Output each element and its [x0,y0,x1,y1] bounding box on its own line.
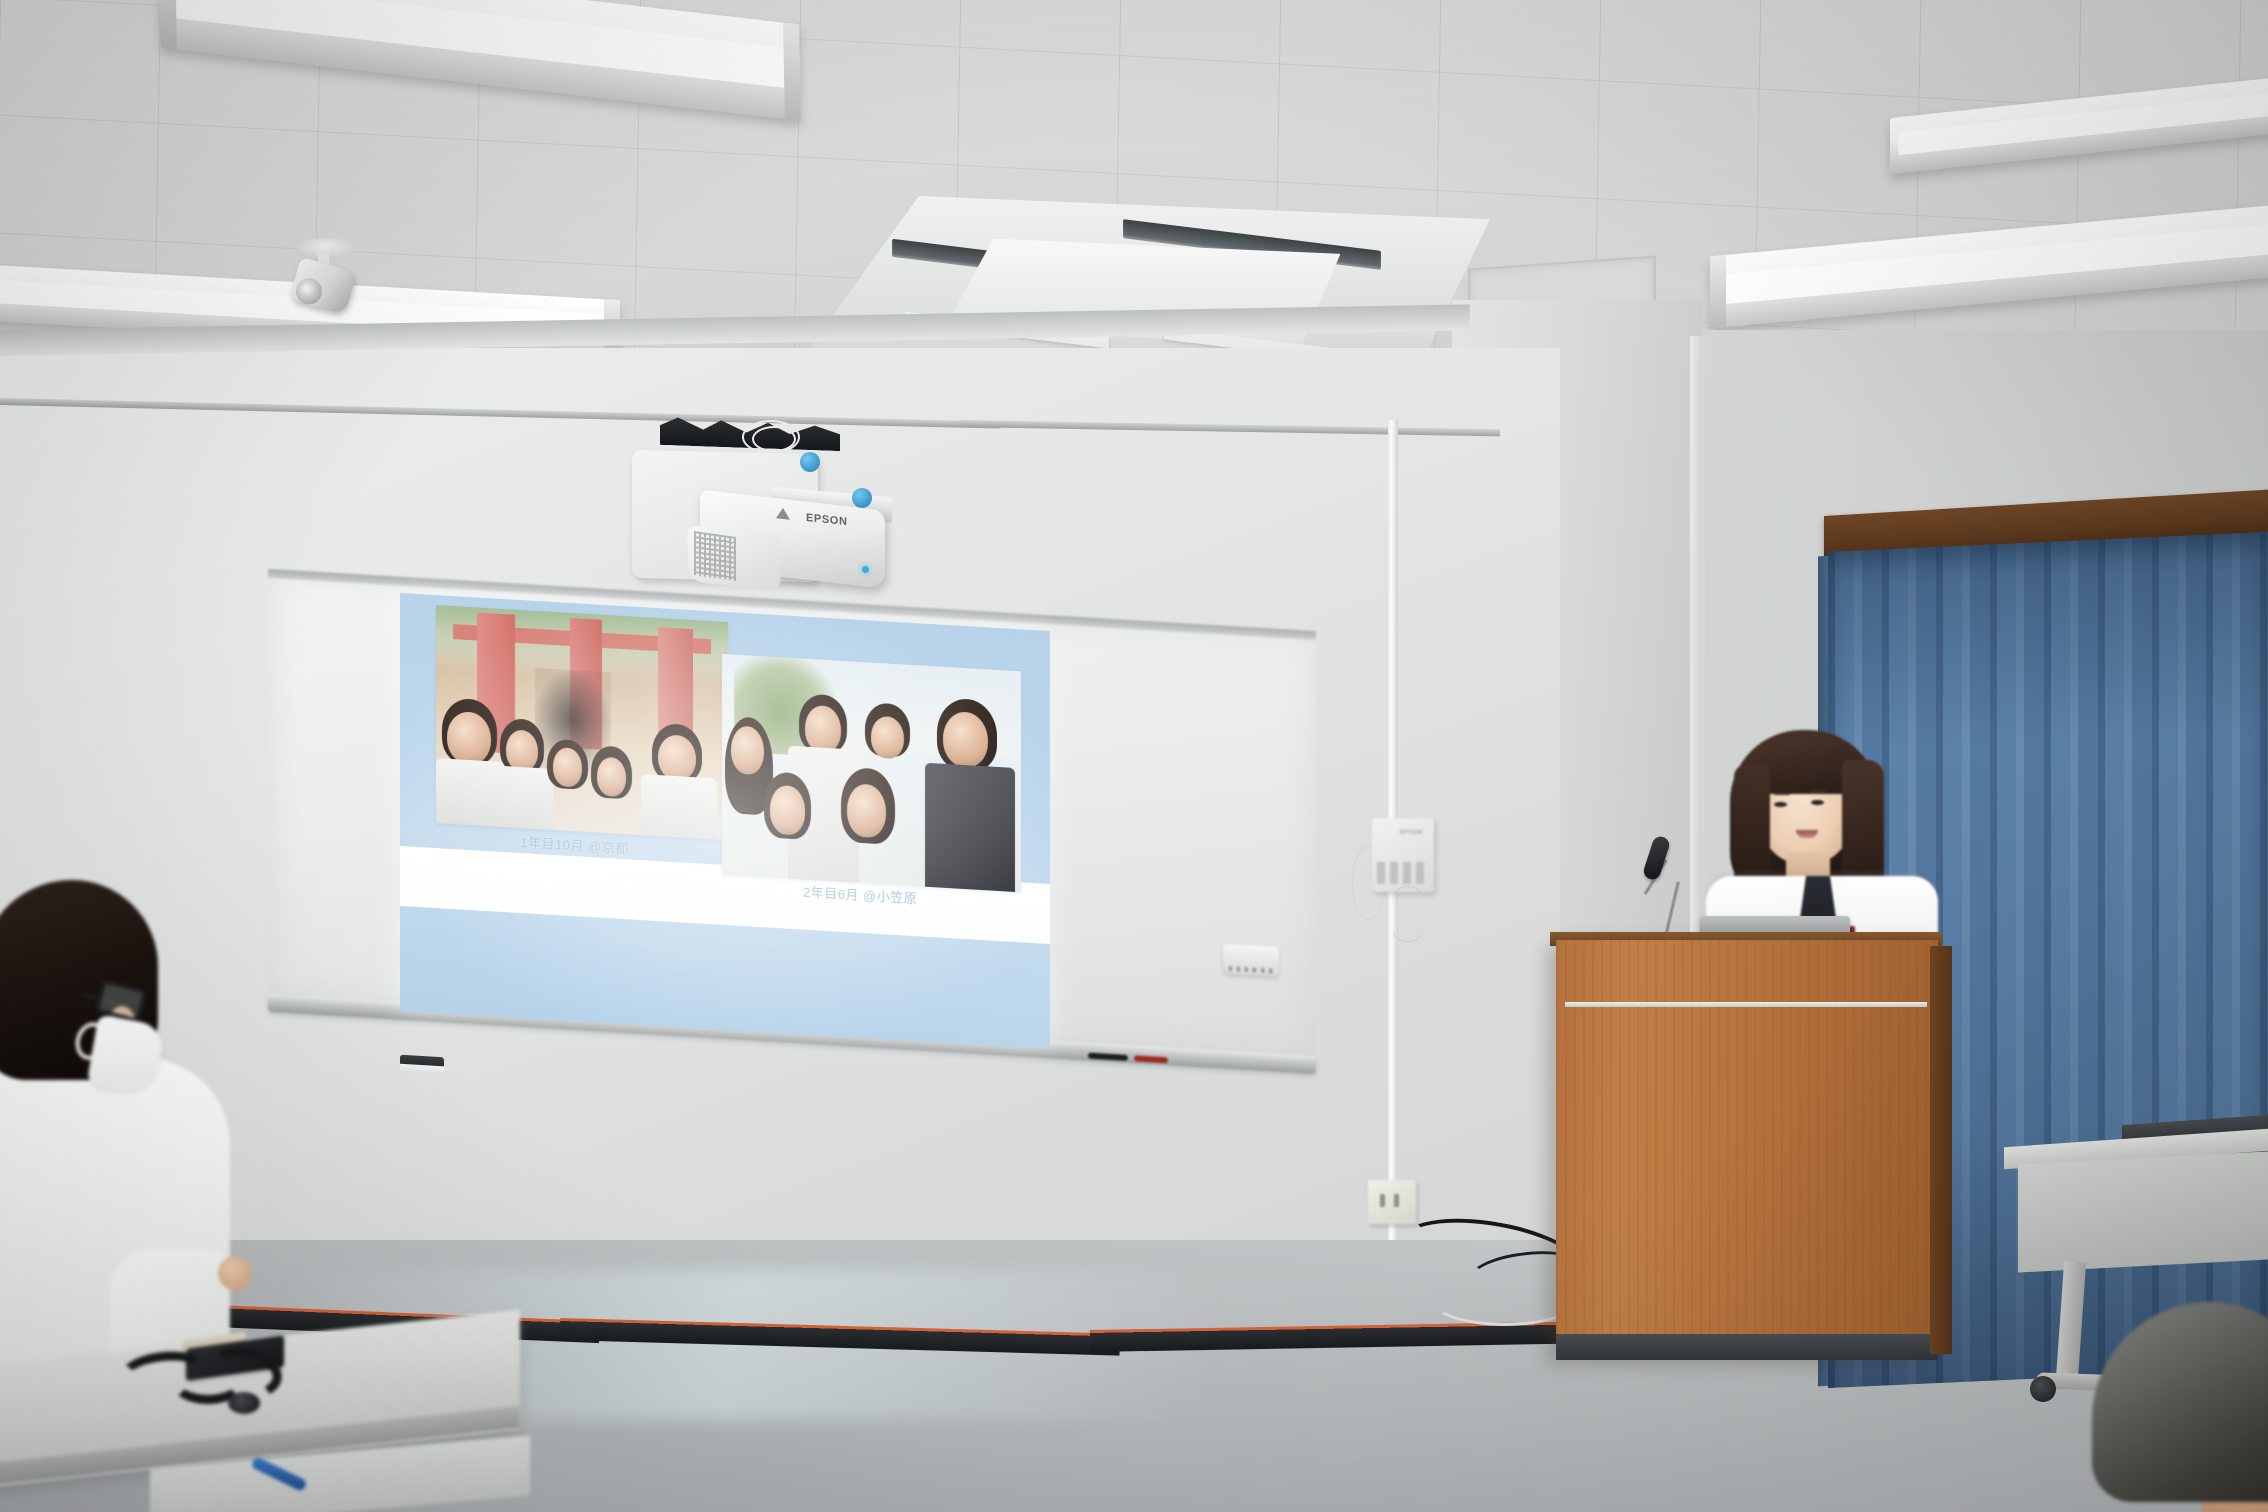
audience-hand [218,1256,252,1290]
presenter-eyebrow [1810,790,1826,793]
projector-power-led [862,566,869,573]
projector-warning-icon [776,507,790,519]
projected-slide: 1年目10月 @京都 2年目6月 @小笠原 [400,593,1050,1049]
control-box-ports[interactable] [1377,862,1429,884]
outlet-slot [1394,1194,1399,1207]
projector-cable-loop [752,426,796,452]
podium [1556,940,1938,1360]
person-body [925,763,1015,892]
person-face [731,725,764,776]
presenter-eyebrow [1774,792,1790,795]
stethoscope [118,1348,298,1418]
whiteboard-eraser-holder[interactable] [1223,944,1279,977]
wall-power-outlet[interactable] [1368,1180,1416,1224]
whiteboard-eraser[interactable] [400,1055,444,1074]
fixture-end-cap [1710,255,1726,328]
projector-adjust-knob[interactable] [800,452,820,472]
stethoscope-chestpiece [228,1392,260,1414]
spotlight-lens [295,277,324,306]
eraser-slots [1229,966,1273,974]
outlet-slot [1380,1194,1385,1207]
lecture-room-photo: EPSON [0,0,2268,1512]
audience-member-right [2092,1302,2268,1512]
podium-trim-strip [1565,1002,1927,1007]
presenter-eye [1811,800,1824,805]
desk-caster [2030,1376,2056,1402]
podium-kickplate [1556,1334,1938,1360]
presenter-eye [1774,802,1787,807]
projector-control-box[interactable]: EPSON [1372,818,1434,892]
slide-photo-2 [722,654,1021,893]
fixture-end-cap [783,23,801,121]
projector-adjust-knob[interactable] [852,488,872,508]
fixture-end-cap [159,0,177,49]
person-face [553,747,582,788]
audience-hair-grey [2092,1302,2268,1502]
control-box-brand-label: EPSON [1400,830,1423,836]
control-box-cable [1386,886,1430,942]
whiteboard-frame-right [1307,631,1316,1062]
podium-side-panel [1930,946,1952,1354]
person-body [494,765,553,829]
projector-air-grille [694,531,736,581]
person-face [597,756,626,797]
folding-desk-apron [2018,1151,2268,1272]
person-body [641,774,717,839]
slide-photo-1 [436,606,729,840]
